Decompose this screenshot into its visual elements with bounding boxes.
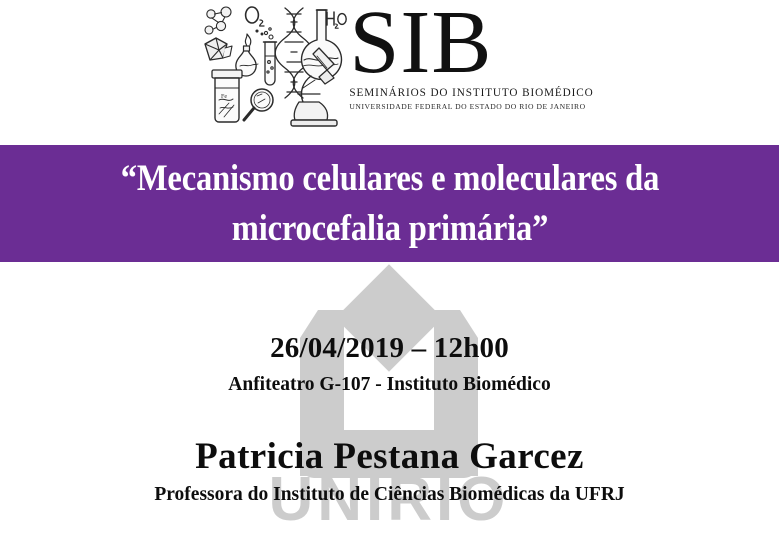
sib-acronym: SIB xyxy=(349,2,492,85)
magnifying-glass-icon xyxy=(244,89,273,120)
poster-header: Fe xyxy=(0,0,779,145)
event-details: 26/04/2019 – 12h00 Anfiteatro G-107 - In… xyxy=(0,262,779,536)
oxygen-formula-icon xyxy=(246,7,264,35)
speaker-name: Patricia Pestana Garcez xyxy=(0,435,779,478)
seminar-title: “Mecanismo celulares e moleculares da mi… xyxy=(64,154,715,252)
title-banner: “Mecanismo celulares e moleculares da mi… xyxy=(0,145,779,262)
seminar-poster: UNIRIO xyxy=(0,0,779,536)
erlenmeyer-flask-icon xyxy=(302,10,342,79)
science-illustration-cluster: Fe xyxy=(199,4,347,130)
test-tube-icon xyxy=(264,28,277,85)
event-datetime: 26/04/2019 – 12h00 xyxy=(0,332,779,365)
seminar-title-line-2: microcefalia primária” xyxy=(231,208,547,249)
sib-wordmark-block: SIB SEMINÁRIOS DO INSTITUTO BIOMÉDICO UN… xyxy=(349,2,593,111)
sib-institution: UNIVERSIDADE FEDERAL DO ESTADO DO RIO DE… xyxy=(349,102,585,111)
speaker-affiliation: Professora do Instituto de Ciências Biom… xyxy=(0,484,779,506)
seminar-title-line-1: “Mecanismo celulares e moleculares da xyxy=(120,158,658,199)
event-venue: Anfiteatro G-107 - Instituto Biomédico xyxy=(0,374,779,396)
molecule-icon xyxy=(205,7,231,34)
sib-logo: Fe xyxy=(199,0,593,130)
crystal-icon xyxy=(205,38,232,60)
specimen-jar-icon: Fe xyxy=(212,70,242,122)
sib-subtitle: SEMINÁRIOS DO INSTITUTO BIOMÉDICO xyxy=(349,87,593,99)
svg-text:Fe: Fe xyxy=(221,94,227,100)
water-formula-icon xyxy=(327,12,346,28)
